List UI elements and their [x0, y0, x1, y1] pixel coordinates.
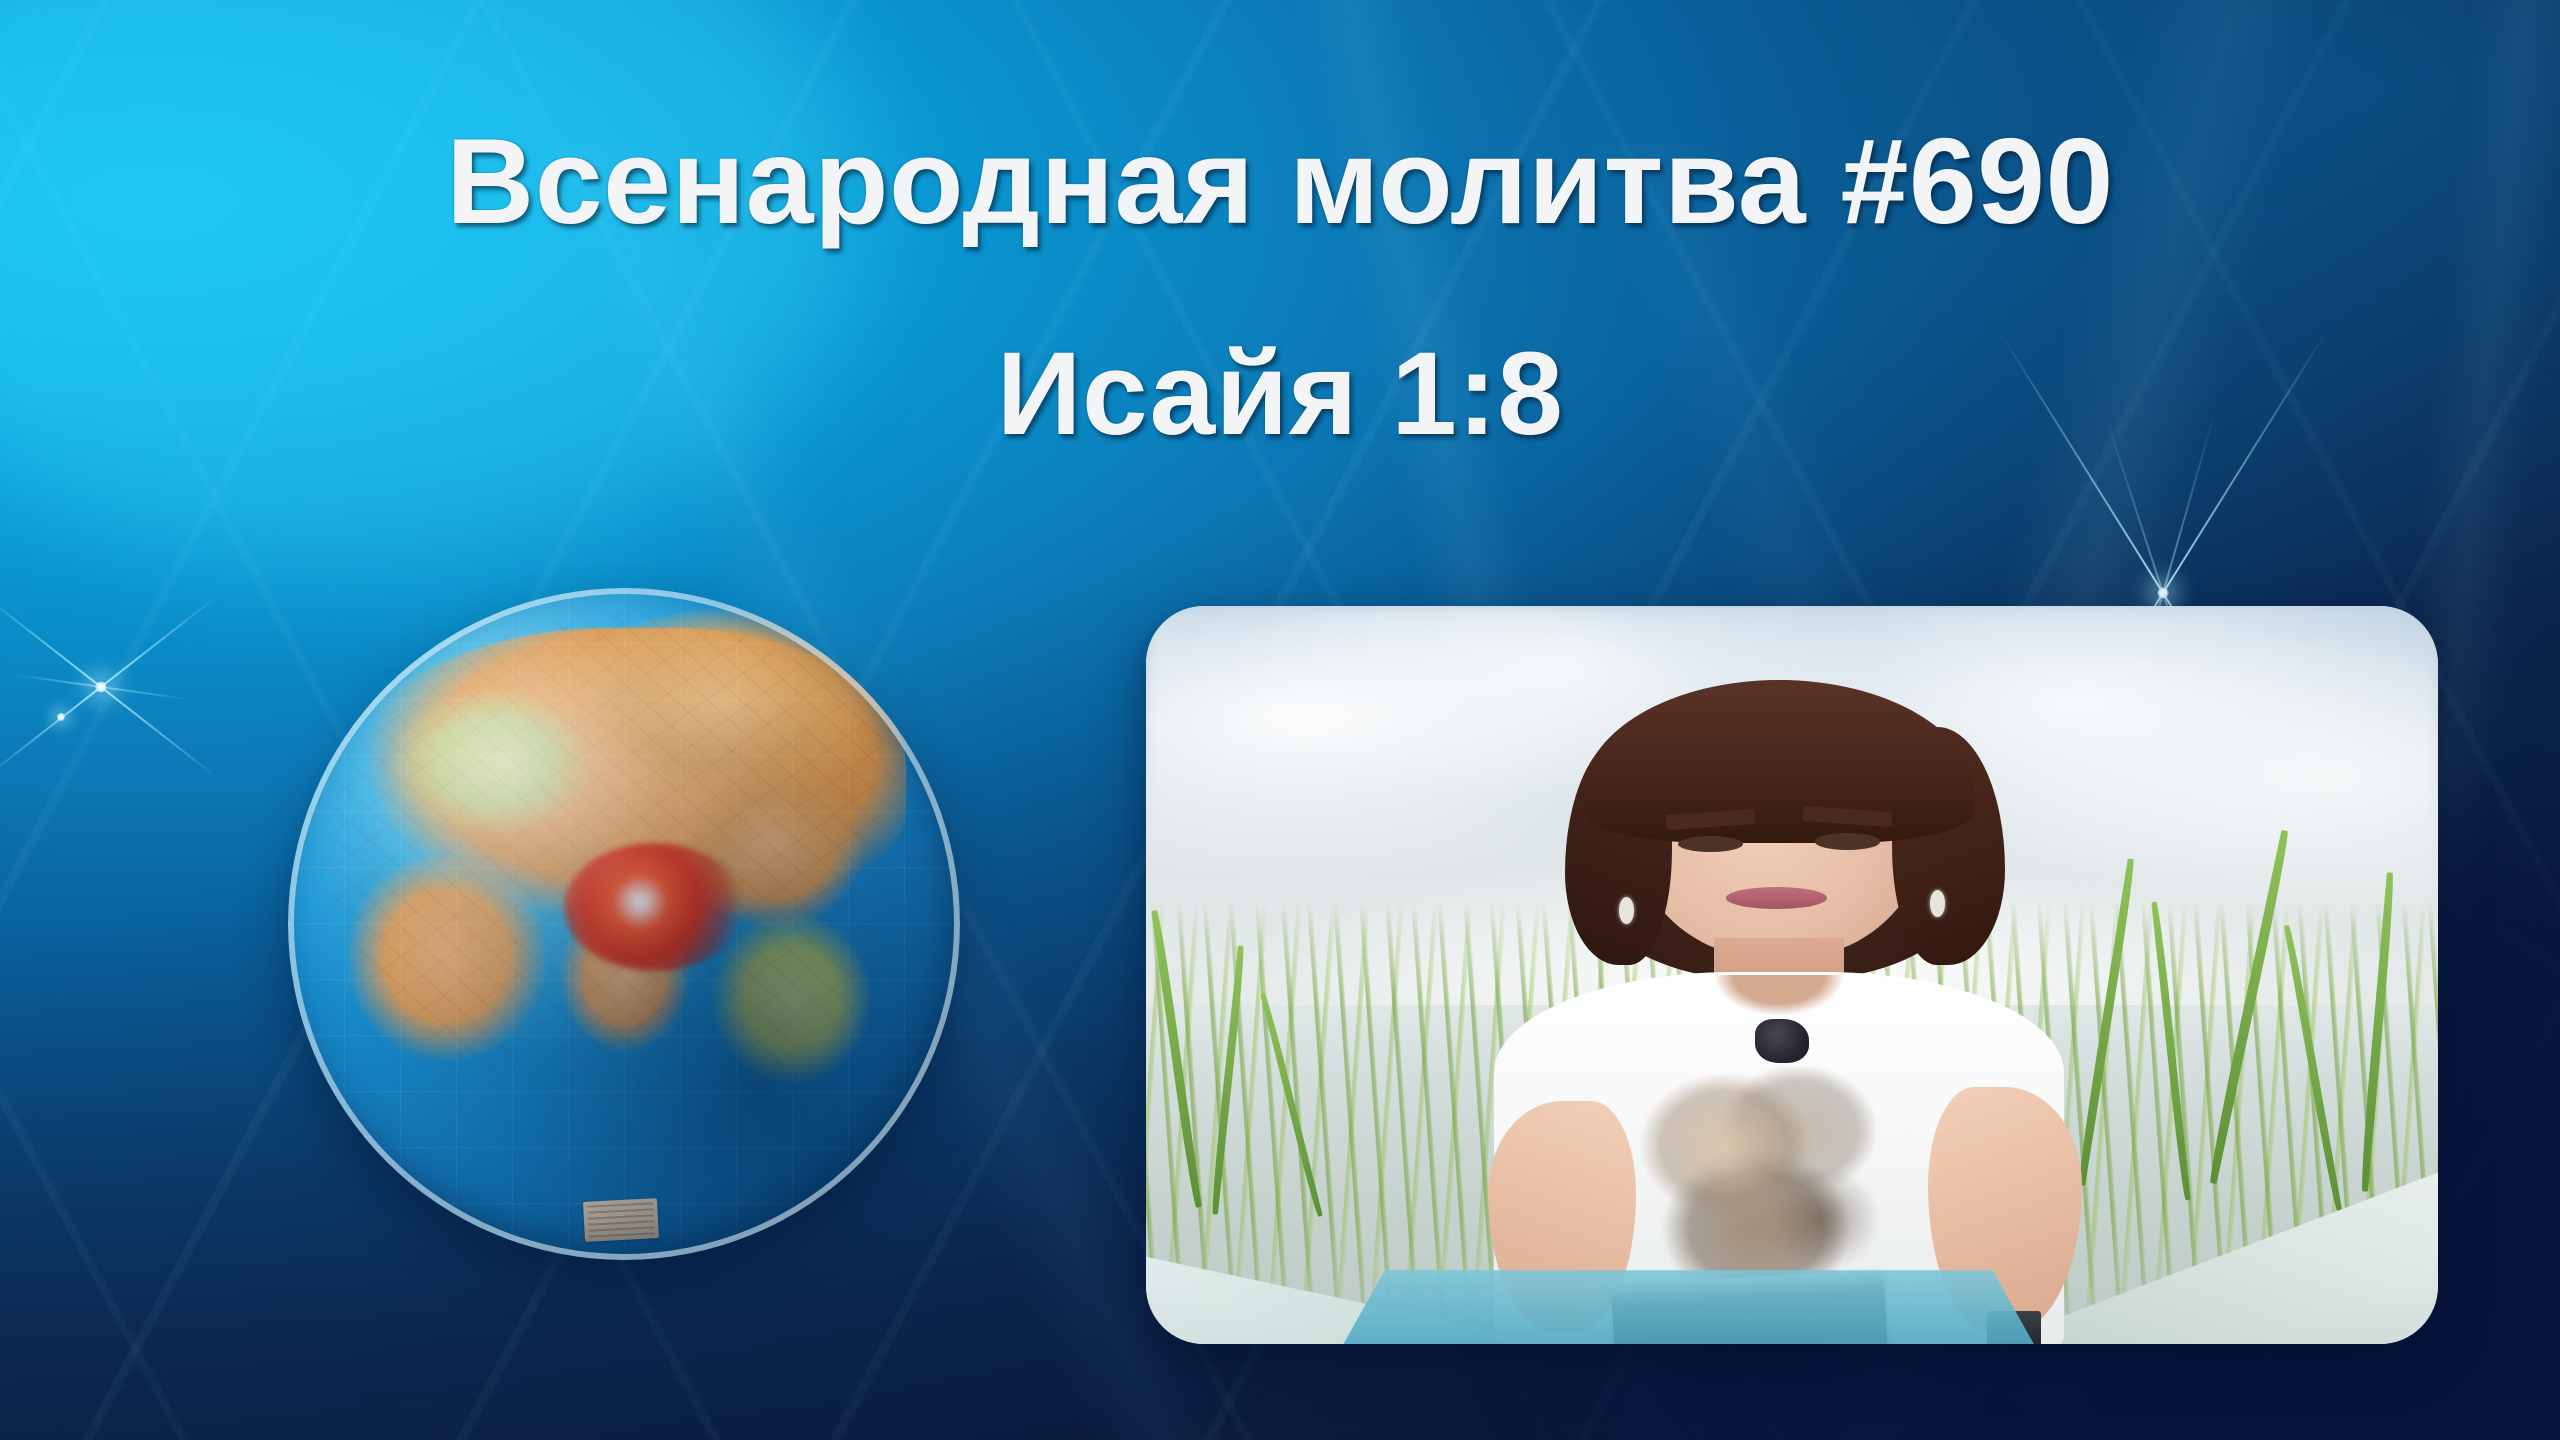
speaker-video-panel[interactable]	[1146, 606, 2438, 1344]
slide-canvas: Всенародная молитва #690 Исайя 1:8	[0, 0, 2560, 1440]
mouth	[1726, 887, 1827, 909]
speaker-figure	[1482, 680, 2076, 1344]
earring-left	[1619, 897, 1634, 924]
lavalier-microphone	[1755, 1019, 1808, 1063]
globe-image	[288, 588, 960, 1260]
page-title: Всенародная молитва #690	[0, 120, 2560, 242]
scripture-reference: Исайя 1:8	[0, 335, 2560, 453]
eye-right	[1815, 833, 1880, 849]
hair-fringe	[1583, 680, 1975, 843]
boat-front-edge	[1327, 1270, 2051, 1344]
globe-rim-highlight	[288, 588, 960, 1260]
